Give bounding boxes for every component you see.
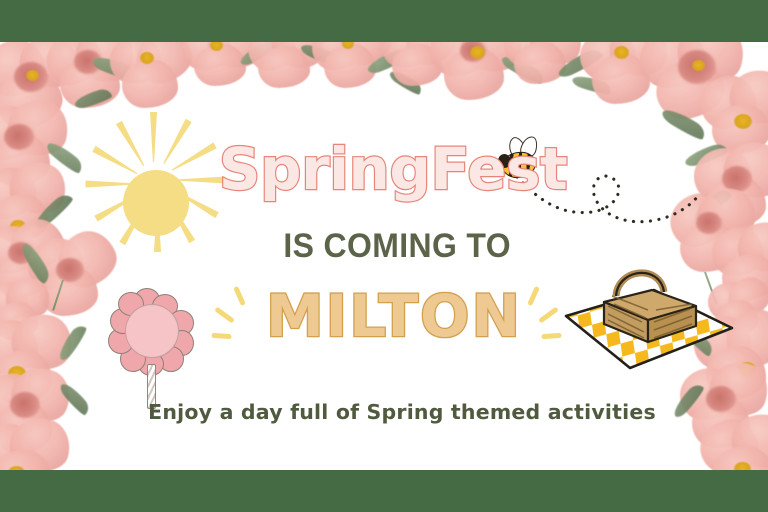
location-name: MILTON	[10, 278, 768, 354]
tagline: Enjoy a day full of Spring themed activi…	[18, 400, 768, 424]
subheadline: IS COMING TO	[36, 227, 758, 266]
location-block: MILTON	[0, 278, 768, 354]
page-title: SpringFest	[9, 140, 768, 198]
poster-text-content: SpringFest IS COMING TO MILTON Enjoy a d…	[0, 42, 768, 470]
spring-fest-poster: SpringFest IS COMING TO MILTON Enjoy a d…	[0, 42, 768, 470]
